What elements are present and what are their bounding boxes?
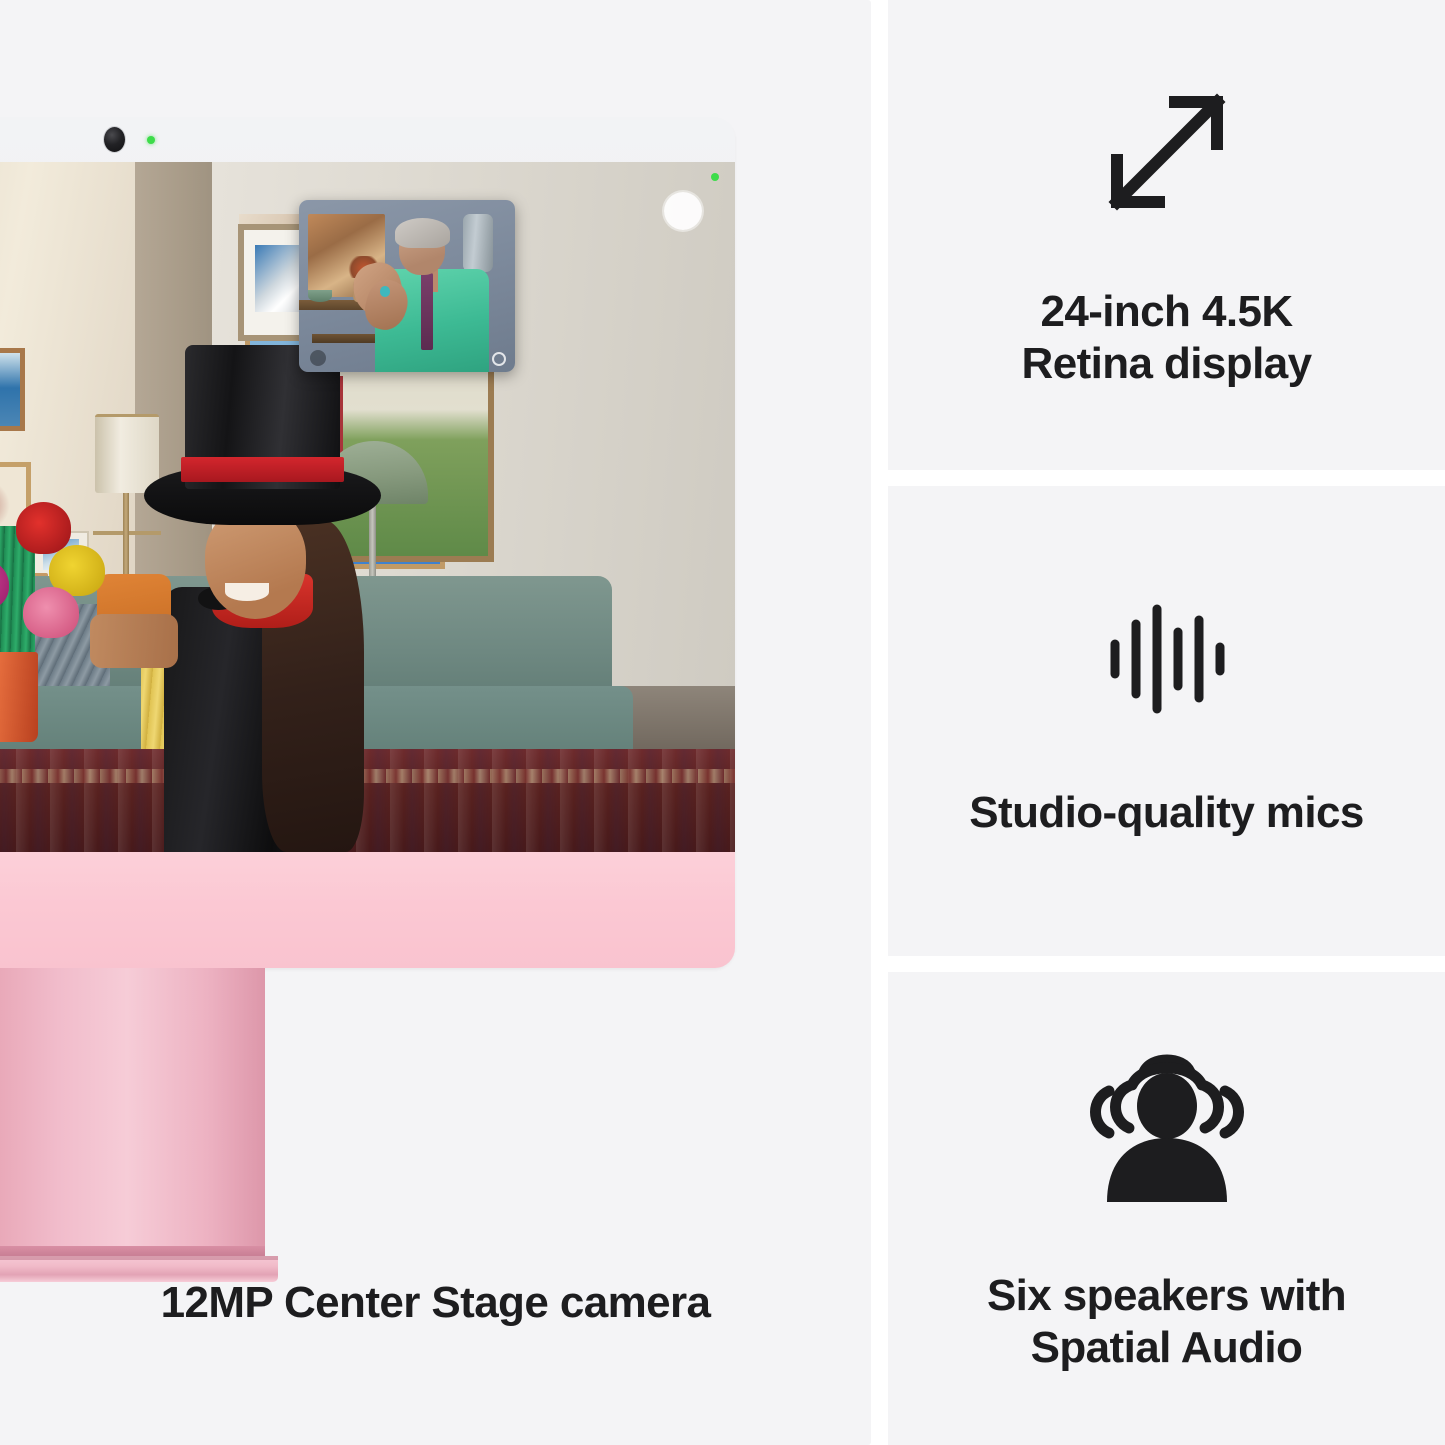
facetime-pip-self-view[interactable]: [299, 200, 514, 373]
camera-feature-card: 12MP Center Stage camera: [0, 0, 871, 1445]
product-feature-grid: 12MP Center Stage camera 24-inch 4.5K Re…: [0, 0, 1445, 1445]
imac-chin: [0, 852, 735, 968]
facetime-main-video: [0, 162, 735, 852]
spatial-audio-person-icon: [1081, 1044, 1253, 1204]
girl-top-hat-band: [181, 457, 343, 482]
camera-lens-icon: [104, 127, 125, 152]
mics-feature-caption: Studio-quality mics: [969, 787, 1363, 839]
pip-person-lanyard: [421, 273, 433, 350]
pip-person-hair: [395, 218, 450, 248]
pip-decor-bowl: [308, 290, 332, 302]
flower-bloom-red: [16, 502, 71, 554]
girl-magician: [151, 404, 489, 853]
display-feature-card: 24-inch 4.5K Retina display: [888, 0, 1445, 470]
speakers-feature-card: Six speakers with Spatial Audio: [888, 972, 1445, 1445]
pip-person-ring: [380, 286, 390, 296]
imac-display-screen: [0, 162, 735, 852]
mics-feature-card: Studio-quality mics: [888, 486, 1445, 956]
imac-product-image: [0, 117, 735, 1167]
imac-crop-region: [0, 0, 871, 1445]
flower-bloom-pink: [23, 587, 78, 639]
expand-diagonal-arrows-icon: [1091, 80, 1243, 228]
recording-indicator-icon: [147, 136, 155, 144]
girl-smile: [225, 583, 269, 601]
floor-lamp-shade: [95, 414, 159, 493]
facetime-active-indicator-icon: [711, 173, 719, 181]
paper-flower-bouquet: [0, 507, 105, 742]
display-feature-caption: 24-inch 4.5K Retina display: [1022, 286, 1312, 390]
pip-remote-participant: [370, 224, 491, 372]
imac-enclosure: [0, 117, 735, 968]
imac-stand-neck: [0, 968, 265, 1256]
flower-pot: [0, 652, 38, 741]
pip-flip-camera-icon[interactable]: [492, 352, 506, 366]
camera-feature-caption: 12MP Center Stage camera: [0, 1278, 871, 1328]
audio-waveform-icon: [1108, 603, 1226, 715]
pip-effects-badge-icon[interactable]: [310, 350, 326, 366]
speakers-feature-caption: Six speakers with Spatial Audio: [987, 1270, 1346, 1374]
